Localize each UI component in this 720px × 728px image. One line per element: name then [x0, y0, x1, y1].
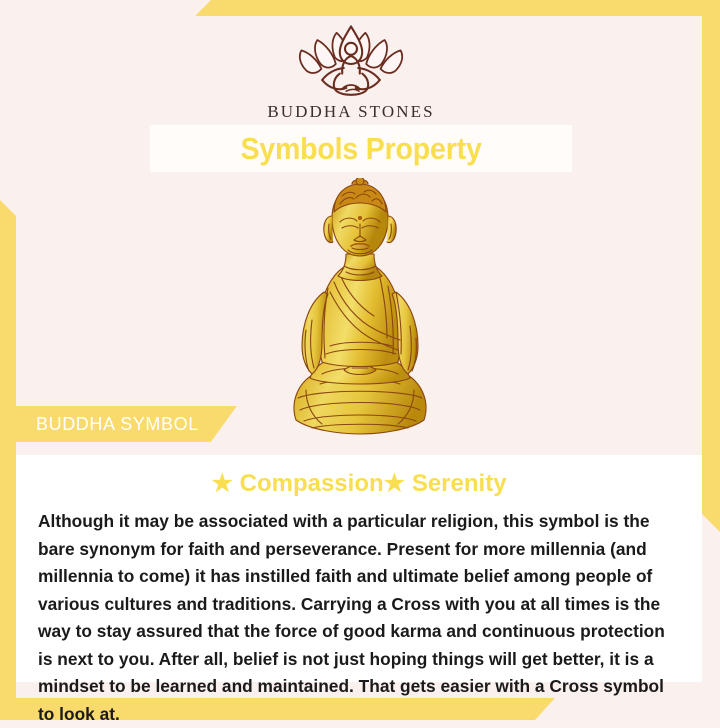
- description-body: Although it may be associated with a par…: [38, 508, 670, 728]
- brand-header: BUDDHA STONES: [0, 16, 702, 122]
- decor-right-yellow-band: [702, 0, 720, 532]
- lotus-meditation-icon: [287, 24, 415, 96]
- decor-top-yellow-band: [195, 0, 720, 16]
- traits-heading: ★ Compassion★ Serenity: [38, 469, 680, 498]
- brand-logo: BUDDHA STONES: [267, 24, 434, 122]
- description-card: ★ Compassion★ Serenity Although it may b…: [16, 455, 702, 682]
- symbol-tag-badge: BUDDHA SYMBOL: [16, 406, 237, 442]
- title-banner: Symbols Property: [150, 125, 572, 172]
- symbol-tag-label: BUDDHA SYMBOL: [36, 414, 199, 435]
- brand-name: BUDDHA STONES: [267, 102, 434, 122]
- decor-left-yellow-band: [0, 200, 16, 720]
- poster-canvas: BUDDHA STONES Symbols Property: [0, 0, 720, 720]
- seated-buddha-statue-icon: [260, 178, 460, 448]
- page-title: Symbols Property: [240, 131, 481, 167]
